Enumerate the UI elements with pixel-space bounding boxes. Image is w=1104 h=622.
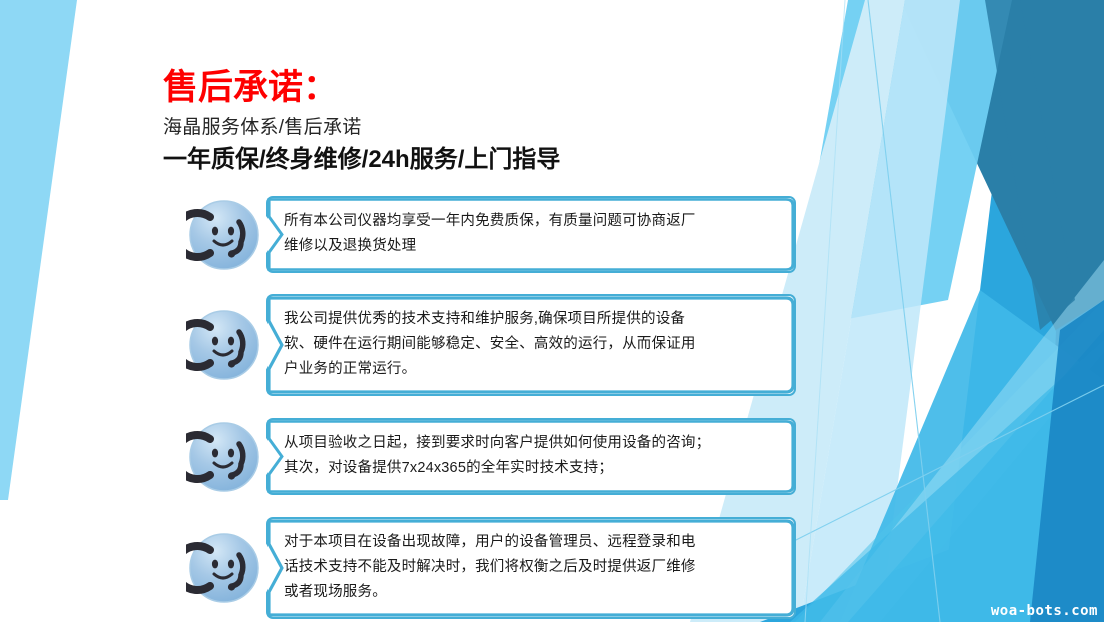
list-item: 所有本公司仪器均享受一年内免费质保，有质量问题可协商返厂 维修以及退换货处理 xyxy=(186,196,796,273)
page-title: 售后承诺： xyxy=(163,68,803,108)
commitment-callout: 所有本公司仪器均享受一年内免费质保，有质量问题可协商返厂 维修以及退换货处理 xyxy=(266,196,796,273)
watermark: woa-bots.com xyxy=(991,603,1098,619)
commitment-text: 对于本项目在设备出现故障，用户的设备管理员、远程登录和电 话技术支持不能及时解决… xyxy=(284,530,780,605)
deco-light-sweep xyxy=(795,300,1104,622)
list-item: 从项目验收之日起，接到要求时向客户提供如何使用设备的咨询； 其次，对设备提供7x… xyxy=(186,418,796,495)
commitment-text: 从项目验收之日起，接到要求时向客户提供如何使用设备的咨询； 其次，对设备提供7x… xyxy=(284,431,780,481)
deco-pale-band xyxy=(800,0,960,622)
list-item: 我公司提供优秀的技术支持和维护服务,确保项目所提供的设备 软、硬件在运行期间能够… xyxy=(186,294,796,396)
deco-hairline-3 xyxy=(805,0,845,622)
customer-service-smiley-headset-icon xyxy=(186,307,262,383)
deco-rising-triangle xyxy=(790,340,1104,622)
commitment-list: 所有本公司仪器均享受一年内免费质保，有质量问题可协商返厂 维修以及退换货处理 xyxy=(186,196,796,622)
customer-service-smiley-headset-icon xyxy=(186,197,262,273)
commitment-callout: 我公司提供优秀的技术支持和维护服务,确保项目所提供的设备 软、硬件在运行期间能够… xyxy=(266,294,796,396)
slide-header: 售后承诺： 海晶服务体系/售后承诺 一年质保/终身维修/24h服务/上门指导 xyxy=(163,68,803,175)
deco-bottom-pale xyxy=(820,260,1104,622)
deco-cyan-sweep xyxy=(840,290,1104,622)
customer-service-smiley-headset-icon xyxy=(186,530,262,606)
commitment-callout: 从项目验收之日起，接到要求时向客户提供如何使用设备的咨询； 其次，对设备提供7x… xyxy=(266,418,796,495)
deco-deep-right xyxy=(1030,300,1104,622)
page-subtitle: 一年质保/终身维修/24h服务/上门指导 xyxy=(163,145,803,175)
commitment-text: 所有本公司仪器均享受一年内免费质保，有质量问题可协商返厂 维修以及退换货处理 xyxy=(284,209,780,259)
commitment-callout: 对于本项目在设备出现故障，用户的设备管理员、远程登录和电 话技术支持不能及时解决… xyxy=(266,517,796,619)
commitment-text: 我公司提供优秀的技术支持和维护服务,确保项目所提供的设备 软、硬件在运行期间能够… xyxy=(284,307,780,382)
customer-service-smiley-headset-icon xyxy=(186,419,262,495)
slide-canvas: 售后承诺： 海晶服务体系/售后承诺 一年质保/终身维修/24h服务/上门指导 xyxy=(0,0,1104,622)
deco-lightcyan-quad xyxy=(790,0,1012,330)
deco-hairline-2 xyxy=(786,385,1104,545)
list-item: 对于本项目在设备出现故障，用户的设备管理员、远程登录和电 话技术支持不能及时解决… xyxy=(186,517,796,619)
deco-pale-wedge xyxy=(940,0,1104,622)
deco-steel-sliver xyxy=(985,0,1075,330)
breadcrumb: 海晶服务体系/售后承诺 xyxy=(163,114,803,141)
deco-hairline-1 xyxy=(868,0,940,622)
deco-dark-wedge xyxy=(900,0,1104,348)
deco-medium-slab xyxy=(1045,300,1104,622)
deco-left-band xyxy=(0,0,77,500)
